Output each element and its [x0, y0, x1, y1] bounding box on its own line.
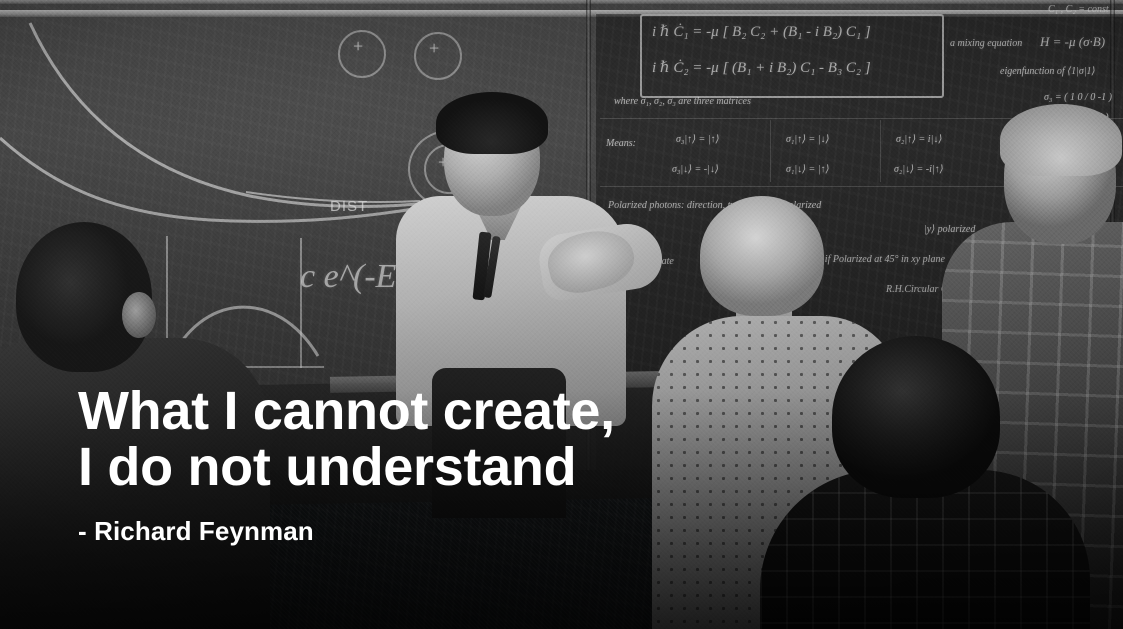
foreground-man-left-ear: [122, 292, 156, 338]
feynman-hair: [436, 92, 548, 154]
quote-overlay: What I cannot create, I do not understan…: [78, 383, 778, 545]
braket-col-div-1: [770, 120, 771, 182]
woman-hair: [700, 196, 824, 316]
charge-circle-1: [338, 30, 386, 78]
charge-circle-2: [414, 32, 462, 80]
quote-text: What I cannot create, I do not understan…: [78, 383, 778, 495]
person-center-head: [832, 336, 1000, 498]
quote-line-1: What I cannot create,: [78, 383, 778, 439]
quote-poster: DIST c e^(-Ei/kT) + + + + i ℏ Ċ₁ = -μ [ …: [0, 0, 1123, 629]
man-right-hair: [1000, 104, 1122, 176]
braket-col-div-2: [880, 120, 881, 182]
quote-line-2: I do not understand: [78, 439, 778, 495]
equation-box: [640, 14, 944, 98]
quote-attribution: - Richard Feynman: [78, 517, 778, 545]
